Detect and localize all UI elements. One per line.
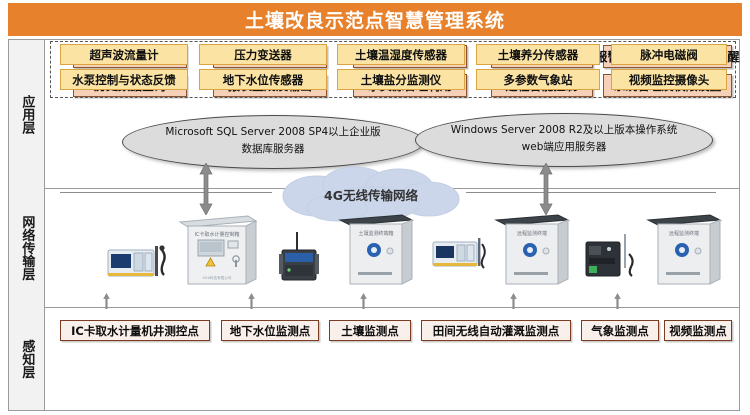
sensor-soil-salinity-monitor[interactable]: 土壤盐分监测仪: [337, 69, 465, 90]
monitoring-point-groundwater-level[interactable]: 地下水位监测点: [221, 320, 319, 341]
layer-label-application: 应用层: [9, 40, 45, 188]
database-server-line1: Microsoft SQL Server 2008 SP4以上企业版: [165, 125, 380, 141]
layer-label-network-text: 网络传输层: [9, 188, 44, 307]
svg-text:远程监测终端: 远程监测终端: [669, 230, 699, 237]
svg-text:远程监测终端: 远程监测终端: [517, 230, 547, 237]
architecture-diagram: 土壤改良示范点智慧管理系统 应用层 网络传输层 感知层 实时数据展示 数据分析汇…: [0, 0, 750, 415]
layer-label-network: 网络传输层: [9, 188, 45, 307]
wireless-dtu-module-image: [274, 230, 326, 286]
sensor-groundwater-level[interactable]: 地下水位传感器: [199, 69, 327, 90]
web-app-server-line1: Windows Server 2008 R2及以上版本操作系统: [451, 123, 678, 139]
layer-label-perception: 感知层: [9, 307, 45, 410]
page-title: 土壤改良示范点智慧管理系统: [245, 6, 505, 33]
layer-label-perception-text: 感知层: [9, 307, 44, 410]
database-server-line2: 数据库服务器: [242, 140, 305, 159]
video-gateway-module-image: [582, 228, 644, 286]
ic-card-water-control-cabinet-image: IC卡取水计量控制箱 XXX科技有限公司: [174, 210, 260, 288]
perception-layer: IC卡取水计量机井测控点 地下水位监测点 土壤监测点 田间无线自动灌溉监测点 气…: [46, 307, 740, 410]
sensor-pump-control-feedback[interactable]: 水泵控制与状态反馈: [60, 69, 188, 90]
sensor-row-2: 水泵控制与状态反馈 地下水位传感器 土壤盐分监测仪 多参数气象站 视频监控摄像头: [54, 69, 732, 90]
layer-label-application-text: 应用层: [9, 40, 44, 188]
svg-text:XXX科技有限公司: XXX科技有限公司: [203, 275, 232, 280]
sensor-pulse-solenoid-valve[interactable]: 脉冲电磁阀: [611, 44, 727, 65]
sensor-grid: 超声波流量计 压力变送器 土壤温湿度传感器 土壤养分传感器 脉冲电磁阀 水泵控制…: [54, 44, 732, 94]
sensor-multi-parameter-weather-station[interactable]: 多参数气象站: [476, 69, 600, 90]
monitoring-point-weather[interactable]: 气象监测点: [581, 320, 659, 341]
svg-text:土壤监测终端箱: 土壤监测终端箱: [358, 230, 393, 237]
field-irrigation-controller-image: [431, 234, 487, 286]
page-title-bar: 土壤改良示范点智慧管理系统: [8, 3, 742, 36]
monitoring-point-soil[interactable]: 土壤监测点: [329, 320, 411, 341]
monitoring-point-row: IC卡取水计量机井测控点 地下水位监测点 土壤监测点 田间无线自动灌溉监测点 气…: [54, 320, 732, 341]
weather-monitoring-cabinet-image: 远程监测终端: [490, 210, 572, 288]
sensor-pressure-transmitter[interactable]: 压力变送器: [199, 44, 327, 65]
web-app-server-node: Windows Server 2008 R2及以上版本操作系统 web端应用服务…: [415, 113, 713, 167]
monitoring-point-field-wireless-irrigation[interactable]: 田间无线自动灌溉监测点: [421, 320, 571, 341]
network-cloud-label: 4G无线传输网络: [271, 166, 471, 222]
svg-text:IC卡取水计量控制箱: IC卡取水计量控制箱: [195, 231, 240, 238]
sensor-row-1: 超声波流量计 压力变送器 土壤温湿度传感器 土壤养分传感器 脉冲电磁阀: [54, 44, 732, 65]
database-server-node: Microsoft SQL Server 2008 SP4以上企业版 数据库服务…: [122, 115, 424, 169]
monitoring-point-video[interactable]: 视频监测点: [664, 320, 732, 341]
sensor-ultrasonic-flow-meter[interactable]: 超声波流量计: [60, 44, 188, 65]
sensor-soil-temp-humidity[interactable]: 土壤温湿度传感器: [337, 44, 465, 65]
video-monitoring-cabinet-image: 远程监测终端: [642, 210, 724, 288]
sensor-video-surveillance-camera[interactable]: 视频监控摄像头: [611, 69, 727, 90]
network-cloud: 4G无线传输网络: [271, 166, 471, 222]
web-app-server-line2: web端应用服务器: [522, 138, 607, 157]
flow-meter-terminal-image: [106, 240, 172, 284]
monitoring-point-ic-card-well[interactable]: IC卡取水计量机井测控点: [60, 320, 210, 341]
sensor-soil-nutrient[interactable]: 土壤养分传感器: [476, 44, 600, 65]
